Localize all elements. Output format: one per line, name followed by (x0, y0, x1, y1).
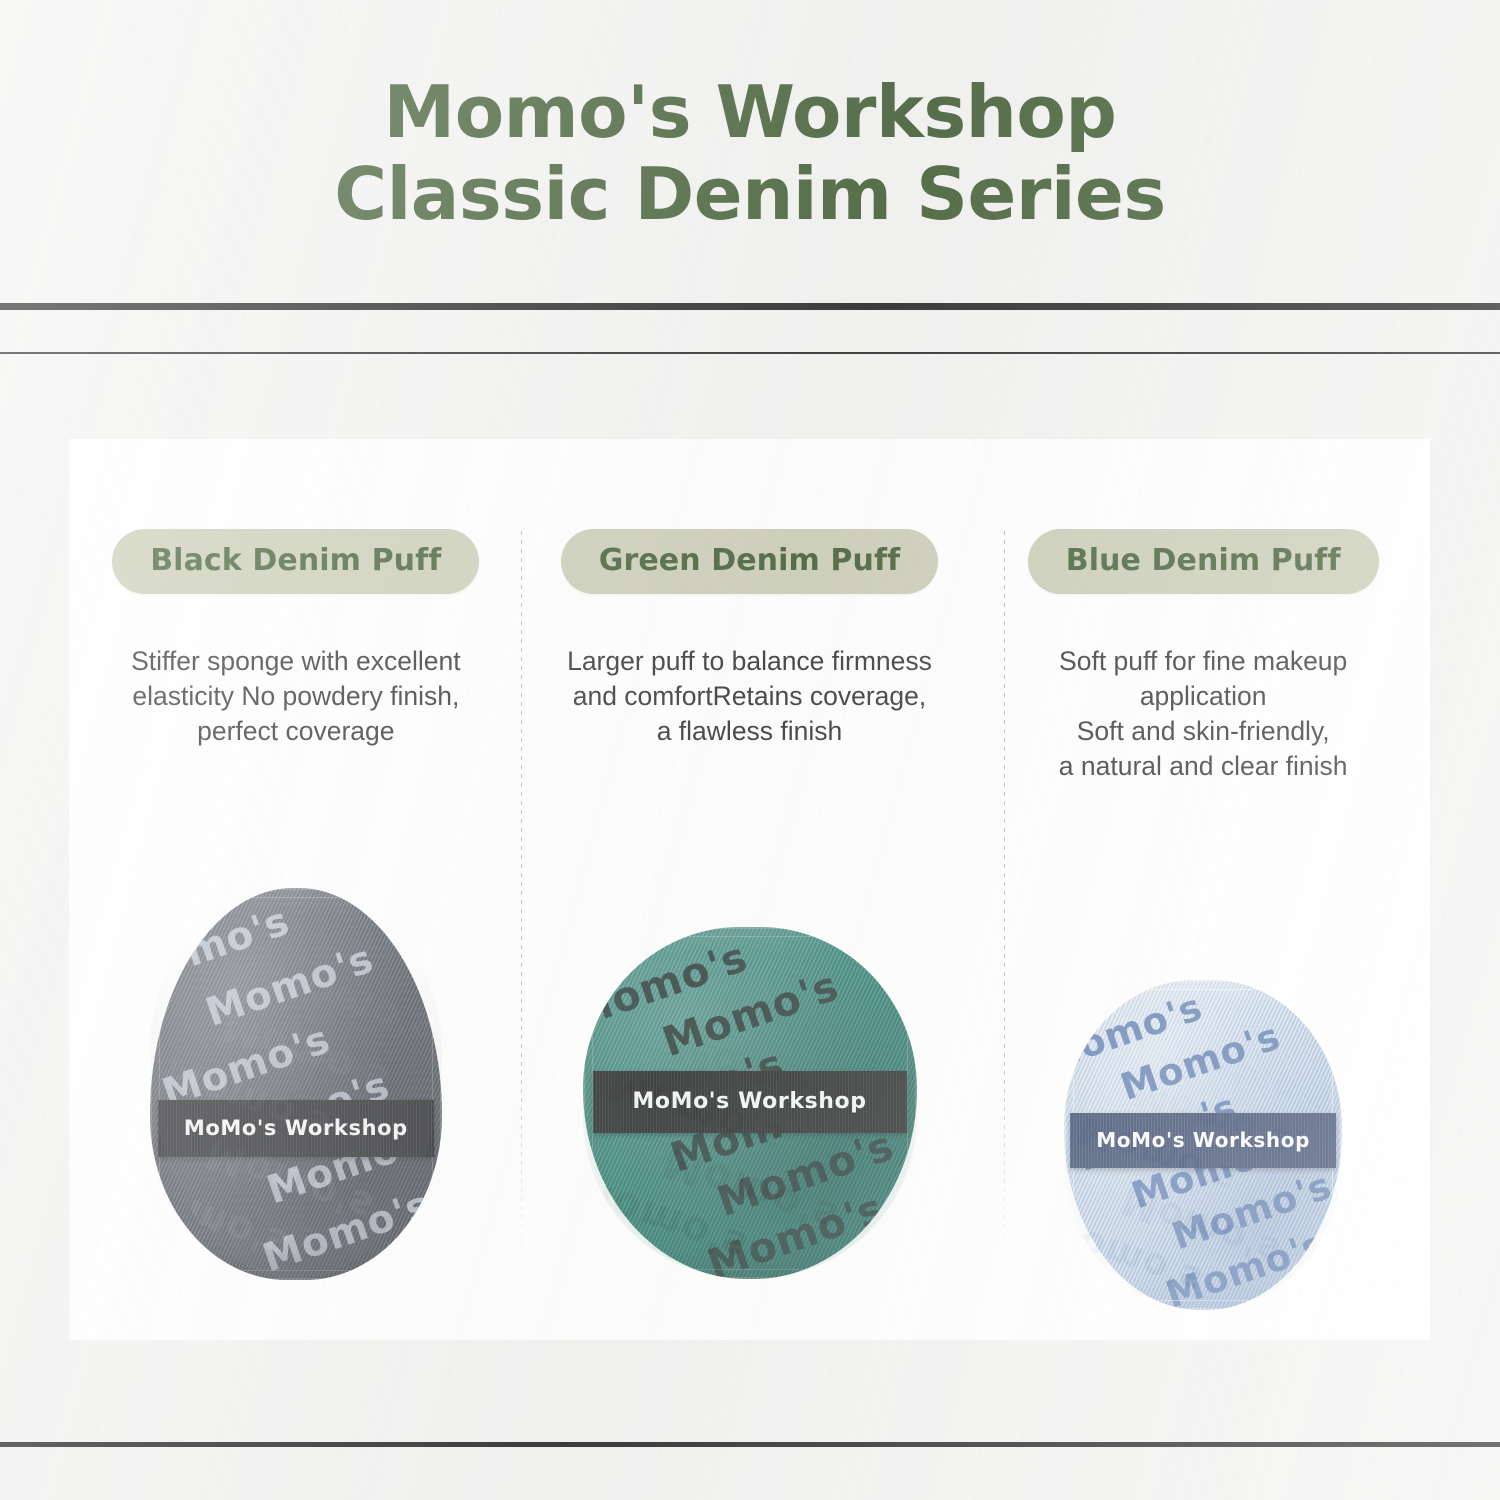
product-comparison-card: Black Denim Puff Stiffer sponge with exc… (69, 439, 1430, 1340)
badge-green-denim-puff[interactable]: Green Denim Puff (561, 529, 939, 594)
product-columns: Black Denim Puff Stiffer sponge with exc… (69, 439, 1430, 1340)
description-black-denim-puff: Stiffer sponge with excellent elasticity… (100, 644, 492, 749)
page-header: Momo's Workshop Classic Denim Series (0, 0, 1500, 306)
strap-label-black: MoMo's Workshop (158, 1100, 434, 1157)
footer-rule (0, 1442, 1500, 1447)
description-line: Stiffer sponge with excellent (100, 644, 492, 679)
strap-label-reflection: MoMo's Workshop (1064, 959, 1237, 978)
description-line: Soft and skin-friendly, (1007, 714, 1399, 749)
puff-body-black: Momo's Momo's Momo's Momo's Momo's Momo'… (150, 888, 442, 1280)
badge-black-denim-puff[interactable]: Black Denim Puff (112, 529, 479, 594)
product-image-blue-denim-puff[interactable]: Momo's Momo's Momo's Momo's Momo's Momo'… (1064, 980, 1342, 1310)
strap-label-reflection: MoMo's Workshop (150, 867, 323, 886)
product-image-stage-blue: Momo's Momo's Momo's Momo's Momo's Momo'… (976, 784, 1430, 1340)
product-image-stage-green: Momo's Momo's Momo's Momo's Momo's Momo'… (523, 749, 977, 1340)
description-line: perfect coverage (100, 714, 492, 749)
description-line: Soft puff for fine makeup (1007, 644, 1399, 679)
description-blue-denim-puff: Soft puff for fine makeup application So… (1007, 644, 1399, 784)
page-title: Momo's Workshop Classic Denim Series (334, 71, 1165, 235)
product-column-blue: Blue Denim Puff Soft puff for fine makeu… (976, 439, 1430, 1340)
title-line-1: Momo's Workshop (334, 71, 1165, 153)
strap-label-green: MoMo's Workshop (593, 1071, 907, 1133)
strap-label-blue: MoMo's Workshop (1070, 1113, 1336, 1168)
product-image-green-denim-puff[interactable]: Momo's Momo's Momo's Momo's Momo's Momo'… (583, 927, 917, 1279)
product-image-black-denim-puff[interactable]: Momo's Momo's Momo's Momo's Momo's Momo'… (150, 888, 442, 1280)
description-line: and comfortRetains coverage, (554, 679, 946, 714)
badge-blue-denim-puff[interactable]: Blue Denim Puff (1028, 529, 1379, 594)
description-line: Larger puff to balance firmness (554, 644, 946, 679)
puff-rim-shading (150, 888, 442, 1280)
description-line: a natural and clear finish (1007, 749, 1399, 784)
strap-label-reflection: MoMo's Workshop (583, 906, 756, 925)
description-line: elasticity No powdery finish, (100, 679, 492, 714)
description-line: a flawless finish (554, 714, 946, 749)
description-line: application (1007, 679, 1399, 714)
header-rule-thin (0, 352, 1500, 354)
product-column-black: Black Denim Puff Stiffer sponge with exc… (69, 439, 523, 1340)
header-rule-thick (0, 303, 1500, 310)
title-line-2: Classic Denim Series (334, 153, 1165, 235)
product-column-green: Green Denim Puff Larger puff to balance … (523, 439, 977, 1340)
product-image-stage-black: Momo's Momo's Momo's Momo's Momo's Momo'… (69, 749, 523, 1340)
description-green-denim-puff: Larger puff to balance firmness and comf… (554, 644, 946, 749)
